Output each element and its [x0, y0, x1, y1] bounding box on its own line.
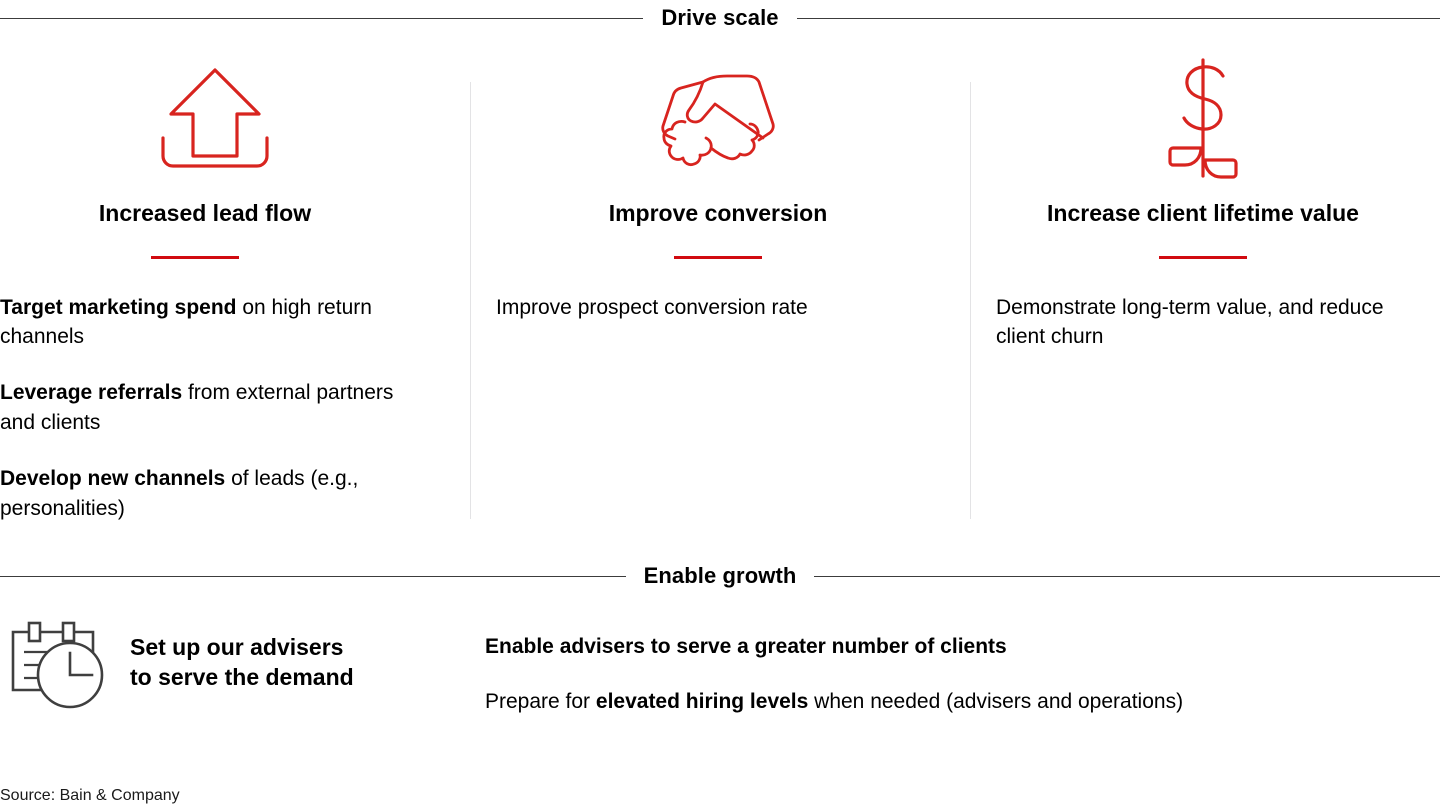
paragraph-3-bold: Develop new channels: [0, 467, 225, 490]
body-bold: elevated hiring levels: [596, 690, 808, 713]
paragraph-2-bold: Leverage referrals: [0, 381, 182, 404]
enable-growth-label-line-1: Set up our advisers: [130, 632, 485, 662]
band-rule-right: [814, 576, 1440, 577]
section-header-enable-growth: Enable growth: [0, 563, 1440, 589]
band-title-enable-growth: Enable growth: [640, 563, 801, 589]
paragraph-1: Demonstrate long-term value, and reduce …: [996, 293, 1410, 353]
accent-underline: [1159, 256, 1247, 259]
paragraph-1-bold: Target marketing spend: [0, 296, 237, 319]
accent-underline: [674, 256, 762, 259]
calendar-clock-icon: [0, 610, 130, 714]
enable-growth-row: Set up our advisers to serve the demand …: [0, 610, 1440, 717]
column-heading: Increase client lifetime value: [996, 200, 1410, 228]
column-improve-conversion: Improve conversion Improve prospect conv…: [470, 58, 970, 528]
column-increase-client-lifetime-value: Increase client lifetime value Demonstra…: [970, 58, 1440, 528]
accent-underline: [151, 256, 239, 259]
body-suffix: when needed (advisers and operations): [808, 690, 1183, 713]
section-header-drive-scale: Drive scale: [0, 5, 1440, 31]
drive-scale-columns: Increased lead flow Target marketing spe…: [0, 58, 1440, 528]
column-heading: Improve conversion: [496, 200, 940, 228]
enable-growth-label: Set up our advisers to serve the demand: [130, 610, 485, 693]
enable-growth-text: Enable advisers to serve a greater numbe…: [485, 610, 1440, 717]
handshake-icon: [496, 58, 940, 178]
paragraph-1-rest: Demonstrate long-term value, and reduce …: [996, 296, 1384, 349]
paragraph-1-rest: Improve prospect conversion rate: [496, 296, 808, 319]
column-body: Improve prospect conversion rate: [496, 293, 940, 323]
band-title-drive-scale: Drive scale: [657, 5, 782, 31]
column-heading: Increased lead flow: [0, 200, 430, 228]
body-prefix: Prepare for: [485, 690, 596, 713]
paragraph-2: Leverage referrals from external partner…: [0, 378, 430, 438]
band-rule-right: [797, 18, 1440, 19]
enable-growth-headline: Enable advisers to serve a greater numbe…: [485, 632, 1440, 661]
money-plant-icon: [996, 58, 1410, 178]
column-body: Demonstrate long-term value, and reduce …: [996, 293, 1410, 353]
band-rule-left: [0, 18, 643, 19]
upload-arrow-icon: [0, 58, 430, 178]
column-increased-lead-flow: Increased lead flow Target marketing spe…: [0, 58, 470, 528]
enable-growth-label-line-2: to serve the demand: [130, 662, 485, 692]
paragraph-3: Develop new channels of leads (e.g., per…: [0, 464, 430, 524]
paragraph-1: Improve prospect conversion rate: [496, 293, 940, 323]
band-rule-left: [0, 576, 626, 577]
enable-growth-body: Prepare for elevated hiring levels when …: [485, 687, 1440, 716]
column-body: Target marketing spend on high return ch…: [0, 293, 430, 524]
source-note: Source: Bain & Company: [0, 786, 180, 805]
paragraph-1: Target marketing spend on high return ch…: [0, 293, 430, 353]
